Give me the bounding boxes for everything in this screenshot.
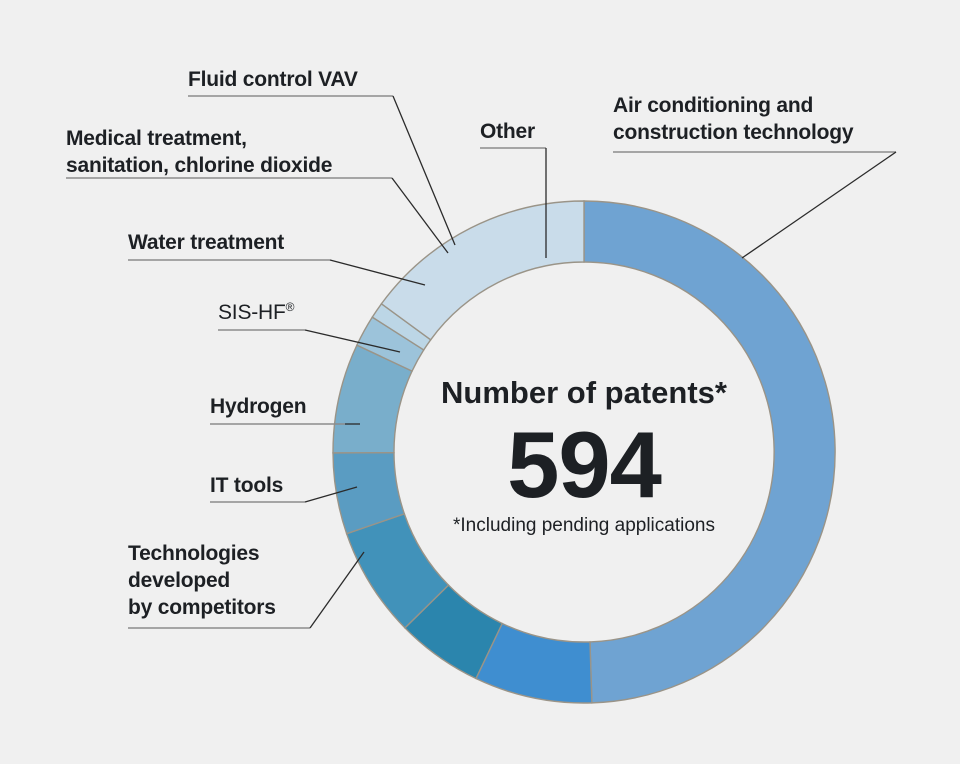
- fluid-control-vav-label: Fluid control VAV: [188, 68, 358, 91]
- hydrogen-label: Hydrogen: [210, 395, 306, 418]
- competitors-leader: [310, 552, 364, 628]
- callout-competitors: Technologies developed by competitors: [128, 542, 364, 628]
- it-tools-label: IT tools: [210, 474, 283, 497]
- competitors-label-line2: developed: [128, 569, 230, 592]
- competitors-label-line3: by competitors: [128, 596, 276, 619]
- fluid-control-vav-leader: [393, 96, 455, 245]
- medical-treatment-label-line1: Medical treatment,: [66, 127, 247, 150]
- medical-treatment-label-line2: sanitation, chlorine dioxide: [66, 154, 332, 177]
- other-label: Other: [480, 120, 535, 143]
- medical-treatment-leader: [392, 178, 448, 253]
- competitors-label-line1: Technologies: [128, 542, 259, 565]
- callout-water-treatment: Water treatment: [128, 231, 425, 285]
- air-conditioning-leader: [742, 152, 896, 258]
- center-note: *Including pending applications: [453, 515, 715, 536]
- center-title: Number of patents*: [441, 375, 728, 410]
- sis-hf-label: SIS-HF®: [218, 300, 295, 324]
- water-treatment-label: Water treatment: [128, 231, 284, 254]
- donut-chart-figure: Fluid control VAV Medical treatment, san…: [0, 0, 960, 764]
- donut-slice[interactable]: [381, 201, 584, 340]
- donut-center-text: Number of patents* 594 *Including pendin…: [441, 375, 728, 536]
- air-conditioning-label-line2: construction technology: [613, 121, 854, 144]
- air-conditioning-label-line1: Air conditioning and: [613, 94, 813, 117]
- chart-canvas: Fluid control VAV Medical treatment, san…: [0, 0, 960, 764]
- center-value: 594: [507, 412, 662, 517]
